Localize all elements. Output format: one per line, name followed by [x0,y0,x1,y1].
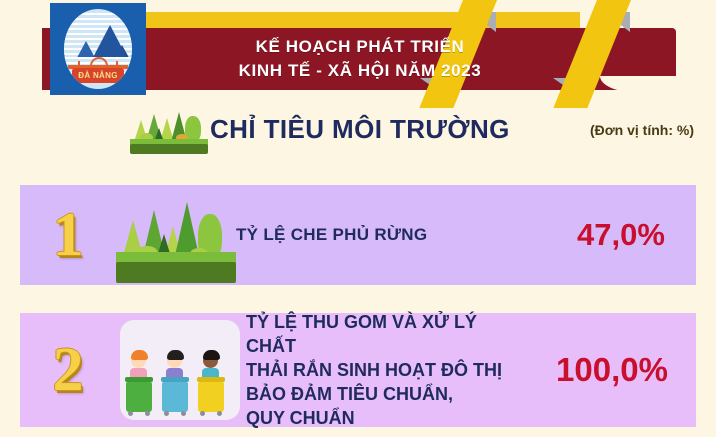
indicator-label-1: TỶ LỆ CHE PHỦ RỪNG [236,225,546,245]
forest-trees-icon [116,187,236,283]
indicator-label-2: TỶ LỆ THU GOM VÀ XỬ LÝ CHẤT THẢI RẮN SIN… [246,310,528,431]
recycling-bin-green [126,377,153,412]
indicator-value-1: 47,0% [546,217,696,253]
indicator-label-2-line-1: TỶ LỆ THU GOM VÀ XỬ LÝ CHẤT [246,310,520,358]
unit-note: (Đơn vị tính: %) [590,122,694,138]
indicator-row-2: 2 [20,313,696,427]
indicator-number-2: 2 [20,339,116,401]
indicator-row-1: 1 TỶ LỆ CHE PHỦ RỪNG 47,0% [20,185,696,285]
recycling-bin-blue [162,377,189,412]
indicator-label-2-line-2: THẢI RẮN SINH HOẠT ĐÔ THỊ [246,358,520,382]
subtitle-row: CHỈ TIÊU MÔI TRƯỜNG (Đơn vị tính: %) [0,100,716,162]
header-banner: KẾ HOẠCH PHÁT TRIỂN KINH TẾ - XÃ HỘI NĂM… [0,0,716,100]
subtitle-title: CHỈ TIÊU MÔI TRƯỜNG [210,114,510,145]
emblem-city-name: ĐÀ NẴNG [72,68,124,83]
banner-title-line-1: KẾ HOẠCH PHÁT TRIỂN [256,35,465,59]
indicator-label-2-line-3: BẢO ĐẢM TIÊU CHUẨN, [246,382,520,406]
subtitle-forest-trees-icon [130,108,208,154]
indicator-label-2-line-4: QUY CHUẨN [246,406,520,430]
banner-title: KẾ HOẠCH PHÁT TRIỂN KINH TẾ - XÃ HỘI NĂM… [150,30,570,88]
children-recycling-bins-icon [116,314,246,426]
recycling-bin-yellow [198,377,225,412]
banner-title-line-2: KINH TẾ - XÃ HỘI NĂM 2023 [239,59,482,83]
emblem-oval: ĐÀ NẴNG [64,9,132,89]
indicator-value-2: 100,0% [528,351,696,389]
da-nang-emblem-icon: ĐÀ NẴNG [50,3,146,95]
indicator-number-1: 1 [20,204,116,266]
